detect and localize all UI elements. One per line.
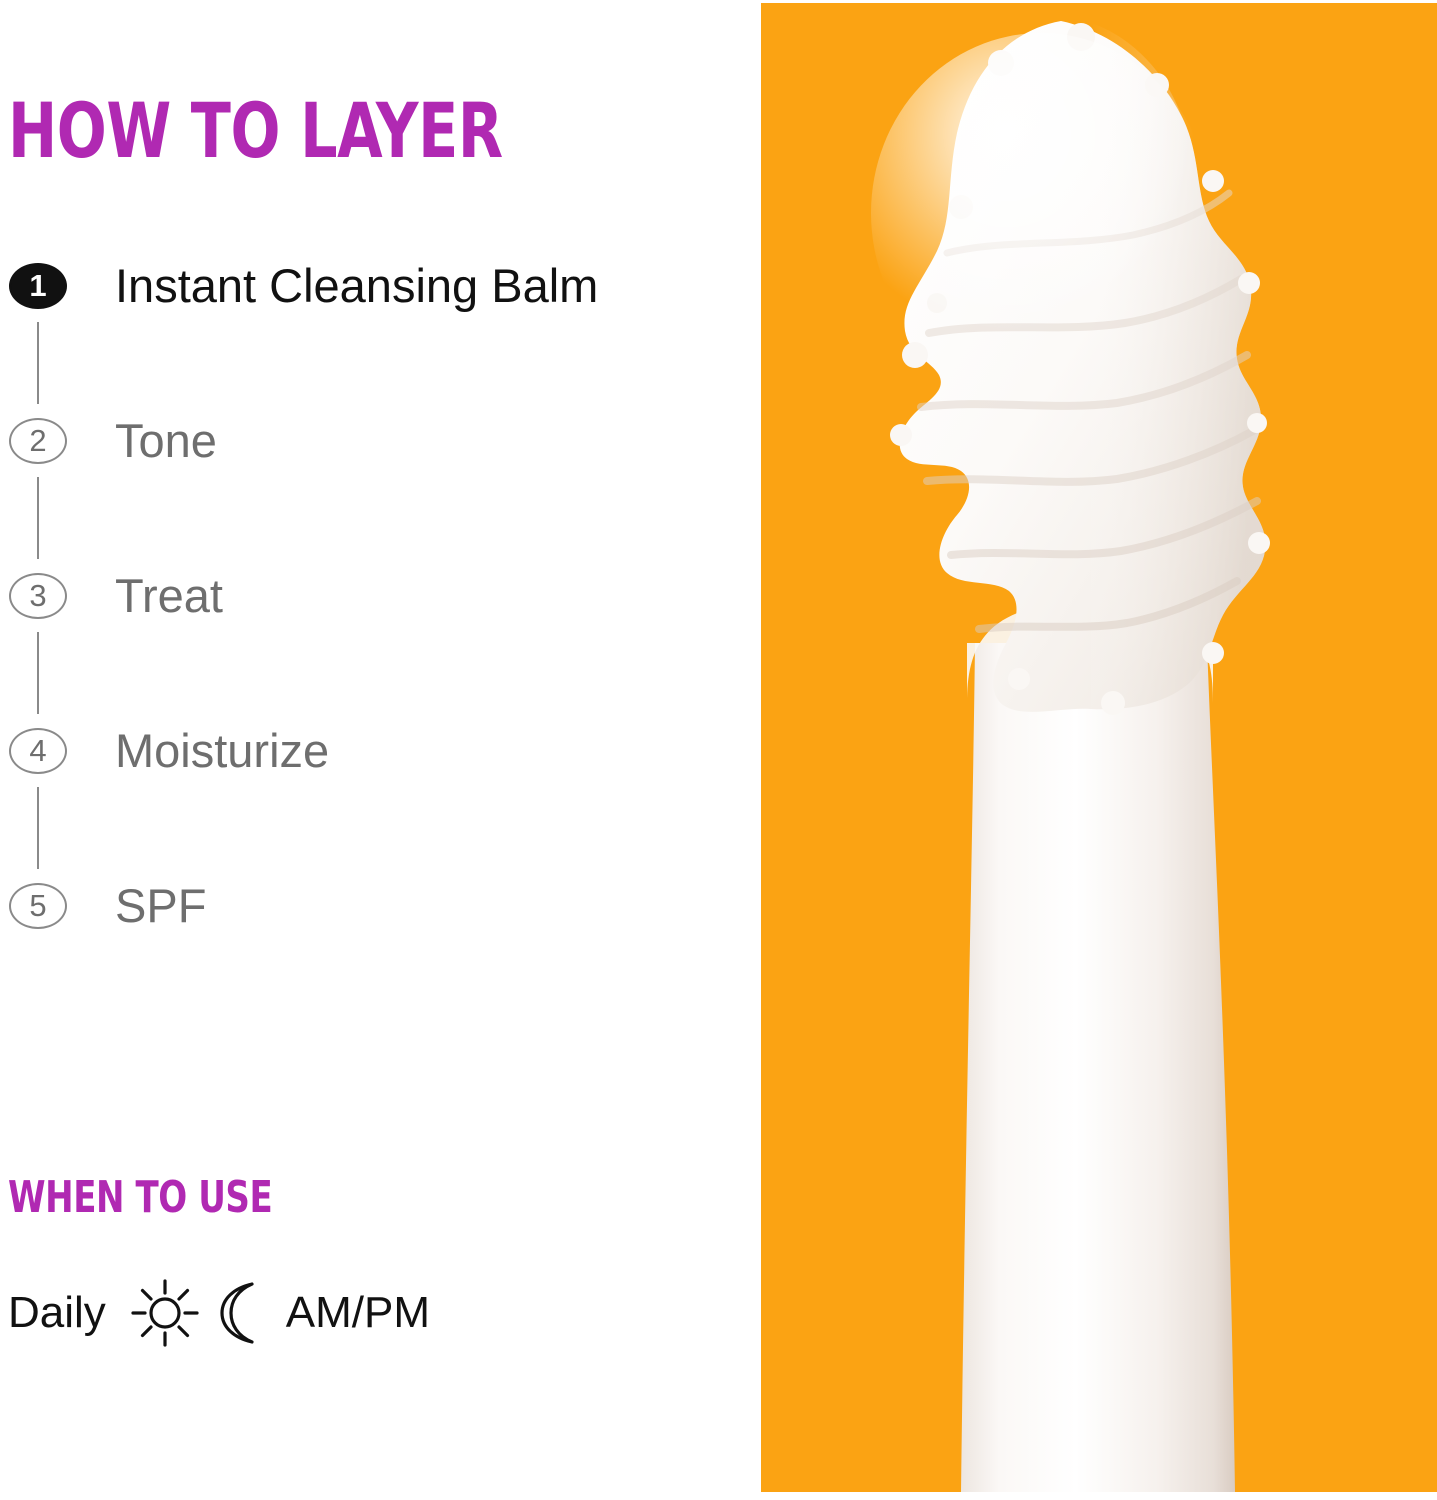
- step-number-badge-1: 1: [9, 263, 67, 309]
- usage-frequency-label: Daily: [8, 1278, 106, 1348]
- step-label-4: Moisturize: [115, 721, 329, 781]
- product-routine-infographic: HOW TO LAYER 1 Instant Cleansing Balm 2 …: [0, 0, 1437, 1500]
- usage-time-of-day-label: AM/PM: [286, 1278, 430, 1348]
- step-number-badge-2: 2: [9, 418, 67, 464]
- when-to-use-heading: WHEN TO USE: [8, 1176, 272, 1220]
- step-number-badge-4: 4: [9, 728, 67, 774]
- step-number-badge-5: 5: [9, 883, 67, 929]
- step-label-1: Instant Cleansing Balm: [115, 256, 598, 316]
- step-number-badge-3: 3: [9, 573, 67, 619]
- step-label-5: SPF: [115, 876, 206, 936]
- moon-icon: [208, 1278, 264, 1348]
- step-connector-line: [37, 322, 39, 404]
- routine-step-list: 1 Instant Cleansing Balm 2 Tone 3 Treat …: [0, 250, 740, 960]
- balm-highlight: [871, 33, 1211, 393]
- step-label-2: Tone: [115, 411, 217, 471]
- cleansing-balm-photo: [761, 3, 1437, 1492]
- spatula-handle: [961, 643, 1235, 1492]
- sun-icon: [130, 1278, 200, 1348]
- list-item[interactable]: 2 Tone: [0, 405, 740, 560]
- list-item[interactable]: 1 Instant Cleansing Balm: [0, 250, 740, 405]
- list-item[interactable]: 5 SPF: [0, 870, 740, 960]
- step-label-3: Treat: [115, 566, 223, 626]
- product-image-panel: [761, 3, 1437, 1492]
- step-connector-line: [37, 477, 39, 559]
- usage-frequency-row: Daily AM/PM: [8, 1278, 430, 1348]
- left-info-panel: HOW TO LAYER 1 Instant Cleansing Balm 2 …: [0, 0, 761, 1500]
- list-item[interactable]: 3 Treat: [0, 560, 740, 715]
- how-to-layer-heading: HOW TO LAYER: [8, 93, 503, 169]
- list-item[interactable]: 4 Moisturize: [0, 715, 740, 870]
- step-connector-line: [37, 787, 39, 869]
- step-connector-line: [37, 632, 39, 714]
